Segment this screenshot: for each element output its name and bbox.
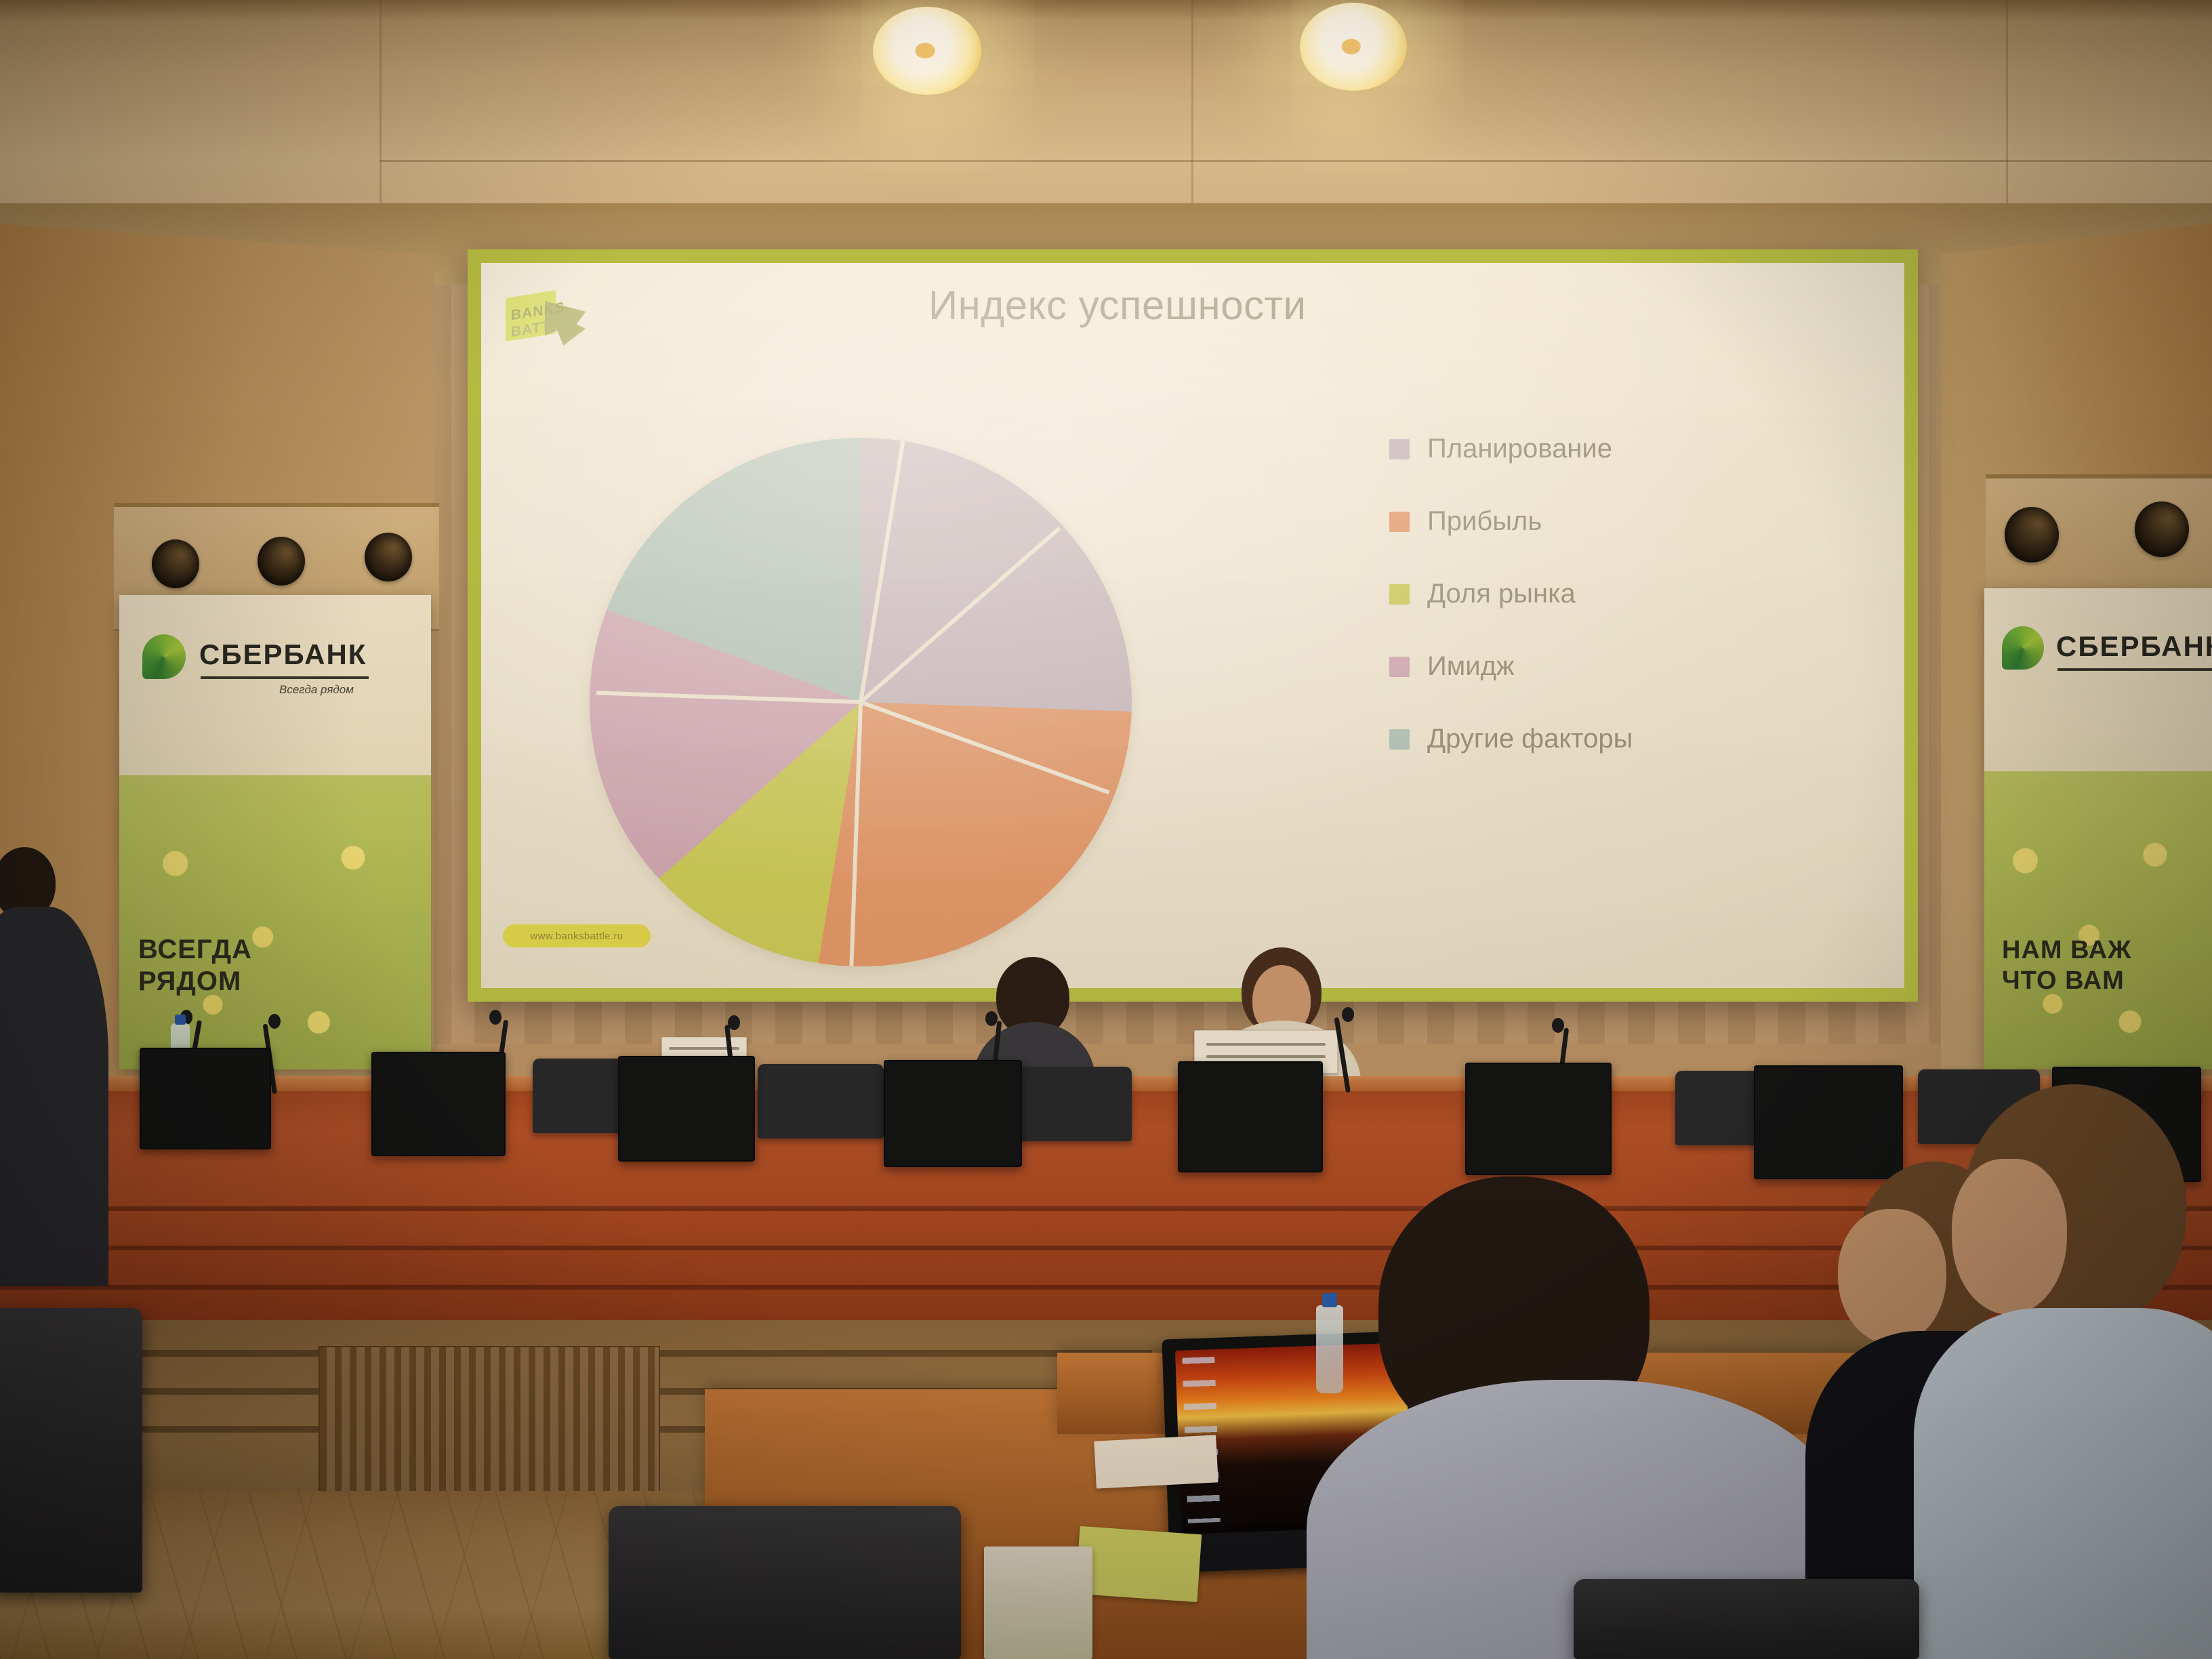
person-face xyxy=(1838,1209,1946,1345)
pie-disc xyxy=(590,438,1132,966)
person-face xyxy=(1952,1159,2067,1315)
microphone-head xyxy=(1342,1007,1354,1022)
ceiling-speaker-icon xyxy=(2135,501,2189,557)
pie-slice-divider xyxy=(596,691,861,704)
legend-swatch-drugie-faktory xyxy=(1389,729,1410,750)
banner-slogan-line2: РЯДОМ xyxy=(138,966,252,998)
sberbank-wordmark: СБЕРБАНК xyxy=(2056,630,2212,663)
bottle-cap xyxy=(175,1015,186,1025)
banner-slogan-line2: ЧТО ВАМ xyxy=(2002,966,2131,996)
legend-swatch-pribyl xyxy=(1389,512,1410,532)
notebook[interactable] xyxy=(1076,1526,1202,1602)
legend-item[interactable]: Планирование xyxy=(1389,434,1823,464)
pie-slice-divider xyxy=(859,441,905,703)
chair-foreground xyxy=(0,1308,142,1593)
sberbank-rule xyxy=(2057,668,2212,671)
pie-slice-divider xyxy=(849,702,863,966)
microphone-head xyxy=(1552,1018,1564,1033)
chair-back xyxy=(1017,1067,1132,1141)
legend-label: Другие факторы xyxy=(1427,724,1633,754)
chart-legend: Планирование Прибыль Доля рынка Имидж Др… xyxy=(1389,434,1823,754)
slide-title: Индекс успешности xyxy=(928,282,1606,329)
ceiling-seam xyxy=(2006,0,2008,203)
spotlight-bulb xyxy=(915,43,935,58)
ceiling-beam xyxy=(0,0,2212,20)
pie-chart xyxy=(590,438,1132,966)
ceiling-panel-line xyxy=(380,160,2212,162)
sberbank-wordmark: СБЕРБАНК xyxy=(199,638,367,671)
microphone-head xyxy=(985,1011,998,1026)
sberbank-banner-right: СБЕРБАНК НАМ ВАЖ ЧТО ВАМ xyxy=(1984,588,2212,1069)
nameplate-line xyxy=(1206,1055,1326,1058)
pie-slice-divider xyxy=(860,700,1110,794)
website-badge[interactable]: www.banksbattle.ru xyxy=(503,924,651,947)
presidium-monitor xyxy=(618,1056,755,1162)
spotlight-bulb xyxy=(1342,39,1361,54)
banner-slogan: ВСЕГДА РЯДОМ xyxy=(138,934,252,998)
presidium-monitor xyxy=(140,1048,271,1149)
ceiling-spotlight xyxy=(873,7,981,95)
banner-slogan-line1: ВСЕГДА xyxy=(138,934,252,966)
legend-swatch-dolya-rynka xyxy=(1389,584,1410,605)
sberbank-logo-icon xyxy=(142,634,186,679)
sberbank-banner-left: СБЕРБАНК Всегда рядом ВСЕГДА РЯДОМ xyxy=(119,595,431,1069)
legend-label: Имидж xyxy=(1427,651,1515,682)
legend-item[interactable]: Доля рынка xyxy=(1389,579,1823,609)
pie-slice-divider xyxy=(859,527,1061,703)
legend-item[interactable]: Имидж xyxy=(1389,651,1823,682)
legend-item[interactable]: Другие факторы xyxy=(1389,724,1823,754)
chair-foreground[interactable] xyxy=(1574,1579,1919,1659)
ceiling-spotlight xyxy=(1300,3,1407,91)
person-torso xyxy=(1914,1308,2212,1659)
ceiling-seam xyxy=(380,0,382,203)
ceiling-speaker-icon xyxy=(258,537,305,586)
nameplate-line xyxy=(1206,1043,1326,1046)
presidium-monitor xyxy=(1465,1063,1612,1175)
ceiling-speaker-icon xyxy=(2005,507,2059,562)
microphone-head xyxy=(489,1010,501,1025)
banner-slogan-line1: НАМ ВАЖ xyxy=(2002,935,2131,966)
chair-foreground[interactable] xyxy=(609,1506,961,1659)
papers-stack[interactable] xyxy=(1094,1435,1218,1488)
microphone-head xyxy=(268,1014,281,1029)
presidium-monitor xyxy=(371,1052,506,1156)
audience-person-right xyxy=(1952,1084,2212,1659)
sberbank-logo-icon xyxy=(2002,626,2044,670)
ceiling-speaker-icon xyxy=(152,539,199,588)
chair-back xyxy=(758,1064,884,1139)
banks-battle-logo: BANKS BATTLE xyxy=(506,294,591,351)
paper-bag[interactable] xyxy=(984,1547,1092,1659)
legend-swatch-imidzh xyxy=(1389,657,1410,677)
person-torso xyxy=(0,907,108,1286)
legend-label: Доля рынка xyxy=(1427,579,1576,609)
sberbank-tagline: Всегда рядом xyxy=(279,683,354,697)
banner-header xyxy=(119,595,431,785)
conference-hall-scene: BANKS BATTLE Индекс успешности Планирова… xyxy=(0,0,2212,1659)
banner-slogan: НАМ ВАЖ ЧТО ВАМ xyxy=(2002,935,2131,996)
presentation-slide: BANKS BATTLE Индекс успешности Планирова… xyxy=(481,263,1904,988)
legend-swatch-planirovanie xyxy=(1389,439,1410,459)
legend-label: Прибыль xyxy=(1427,506,1542,537)
ceiling-speaker-icon xyxy=(365,533,412,581)
projection-screen: BANKS BATTLE Индекс успешности Планирова… xyxy=(468,249,1918,1002)
presidium-monitor xyxy=(1178,1061,1323,1172)
legend-label: Планирование xyxy=(1427,434,1612,464)
bottle-cap xyxy=(1322,1293,1337,1307)
legend-item[interactable]: Прибыль xyxy=(1389,506,1823,537)
banner-header xyxy=(1984,588,2212,781)
sberbank-rule xyxy=(201,676,369,679)
ceiling-seam xyxy=(1191,0,1193,224)
banner-flower-art xyxy=(1984,771,2212,1069)
presidium-monitor xyxy=(884,1060,1022,1167)
microphone-head xyxy=(728,1015,740,1030)
water-bottle[interactable] xyxy=(1316,1305,1343,1393)
